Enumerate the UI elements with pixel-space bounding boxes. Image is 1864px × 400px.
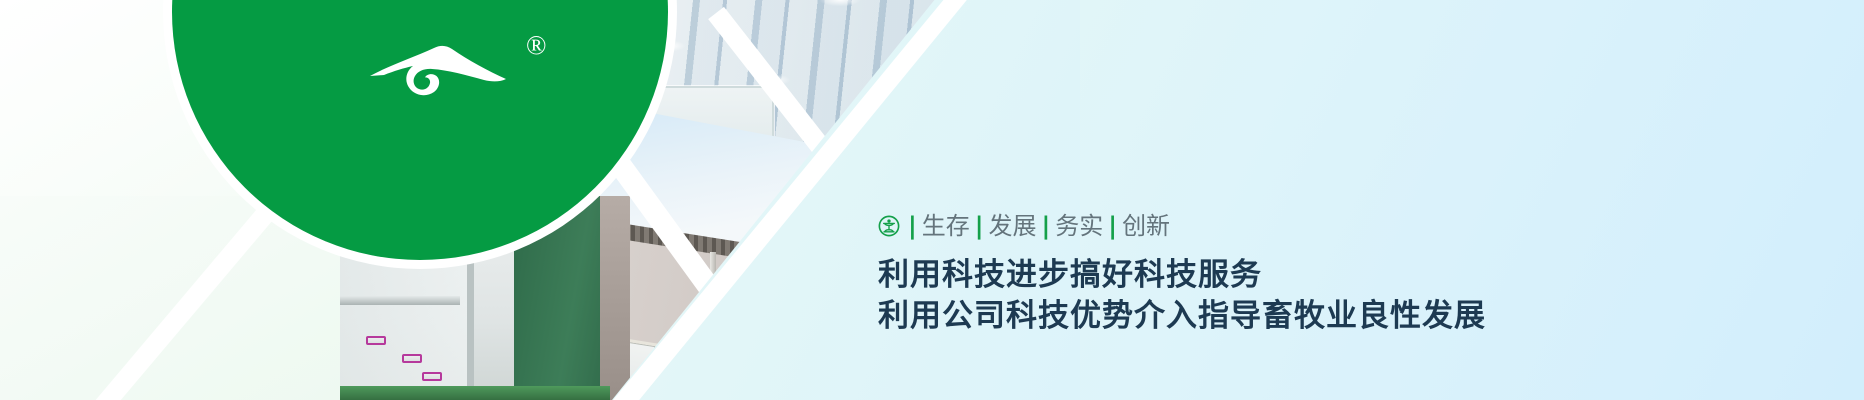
left-mask-wedge: [0, 196, 340, 400]
registered-trademark-symbol: ®: [526, 32, 547, 59]
tagline-word-1: 生存: [922, 212, 970, 241]
machine-room-wall: [600, 196, 630, 400]
product-pouch: [422, 372, 442, 381]
product-pouch: [366, 336, 386, 345]
company-logo-mark: [368, 42, 508, 102]
tagline-word-2: 发展: [989, 212, 1037, 241]
headline-line-1: 利用科技进步搞好科技服务: [878, 255, 1778, 296]
tagline-separator: |: [907, 212, 918, 241]
tagline-separator: |: [1041, 212, 1052, 241]
conveyor-belt: [310, 386, 610, 400]
text-block: |生存|发展|务实|创新 利用科技进步搞好科技服务 利用公司科技优势介入指导畜牧…: [878, 212, 1778, 337]
tagline-word-4: 创新: [1122, 212, 1170, 241]
tagline-separator: |: [974, 212, 985, 241]
tagline-word-3: 务实: [1055, 212, 1103, 241]
green-circle-figure-icon: [878, 215, 900, 237]
product-pouch: [402, 354, 422, 363]
hero-banner: ® |生存|发展|务实|创新 利用科技进步搞好科技服务 利用公司科技优势介入指导…: [0, 0, 1864, 400]
headline-line-2: 利用公司科技优势介入指导畜牧业良性发展: [878, 296, 1778, 337]
tagline-separator: |: [1107, 212, 1118, 241]
tagline: |生存|发展|务实|创新: [878, 212, 1778, 241]
